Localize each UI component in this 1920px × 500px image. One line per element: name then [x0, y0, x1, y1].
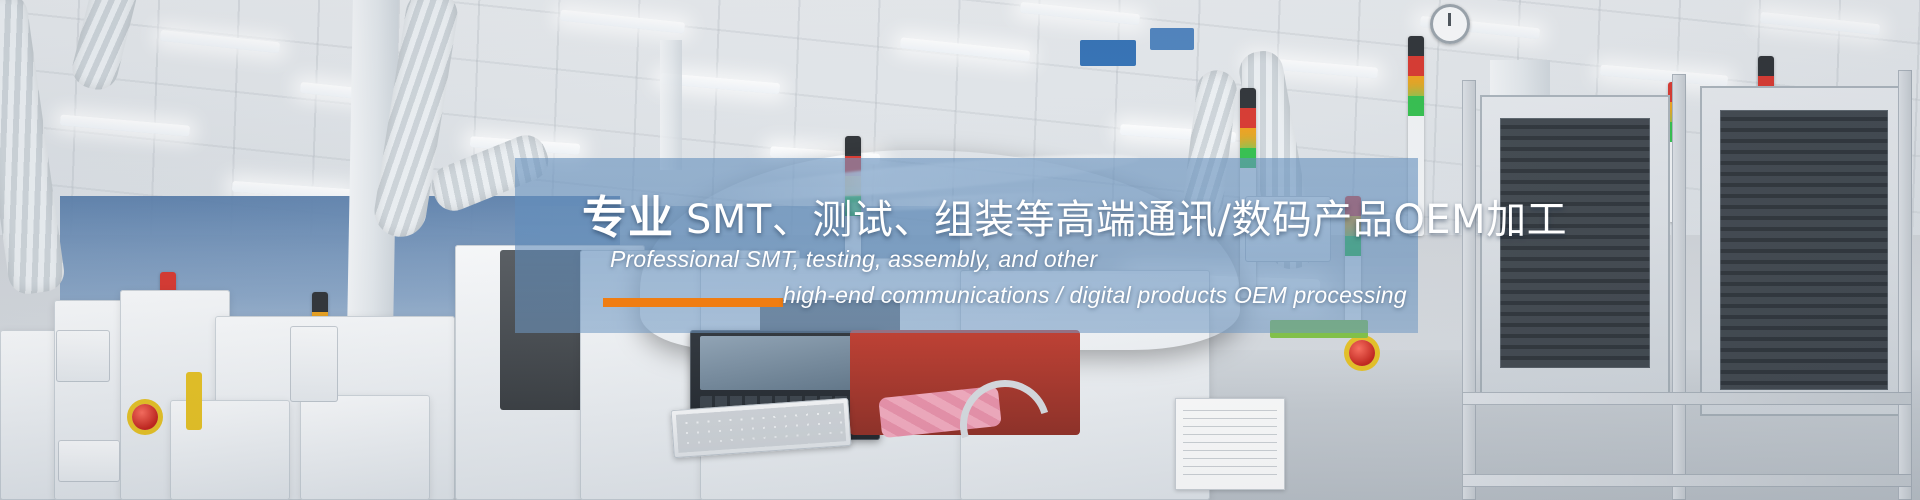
operator-touch-panel: [56, 330, 110, 382]
machine-display-screen: [700, 336, 872, 390]
structural-pillar: [660, 40, 682, 170]
overhead-sign: [1150, 28, 1194, 50]
banner-subtitle-line-2: high-end communications / digital produc…: [783, 282, 1407, 309]
rack-frame: [1462, 80, 1476, 500]
operator-touch-panel: [58, 440, 120, 482]
emergency-stop-button: [1349, 340, 1375, 366]
rack-frame: [1462, 474, 1912, 487]
rack-frame: [1672, 74, 1686, 500]
operator-touch-panel: [290, 326, 338, 402]
emergency-stop-button: [132, 404, 158, 430]
storage-rack-shelves: [1720, 110, 1888, 390]
banner-headline: 专业 SMT、测试、组装等高端通讯/数码产品OEM加工: [582, 181, 1567, 246]
process-document: [1175, 398, 1285, 490]
smt-machine-base: [300, 395, 430, 500]
banner-subtitle-line-1: Professional SMT, testing, assembly, and…: [610, 246, 1097, 273]
wall-clock-icon: [1430, 4, 1470, 44]
rack-frame: [1462, 392, 1912, 405]
headline-overlay-band: 专业 SMT、测试、组装等高端通讯/数码产品OEM加工 Professional…: [515, 158, 1418, 333]
rack-frame: [1898, 70, 1912, 500]
orange-accent-bar: [603, 298, 783, 307]
headline-emphasis: 专业: [582, 181, 674, 246]
hero-banner: 专业 SMT、测试、组装等高端通讯/数码产品OEM加工 Professional…: [0, 0, 1920, 500]
headline-rest: SMT、测试、组装等高端通讯/数码产品OEM加工: [686, 187, 1567, 245]
machine-marker: [186, 372, 202, 430]
overhead-sign: [1080, 40, 1136, 66]
